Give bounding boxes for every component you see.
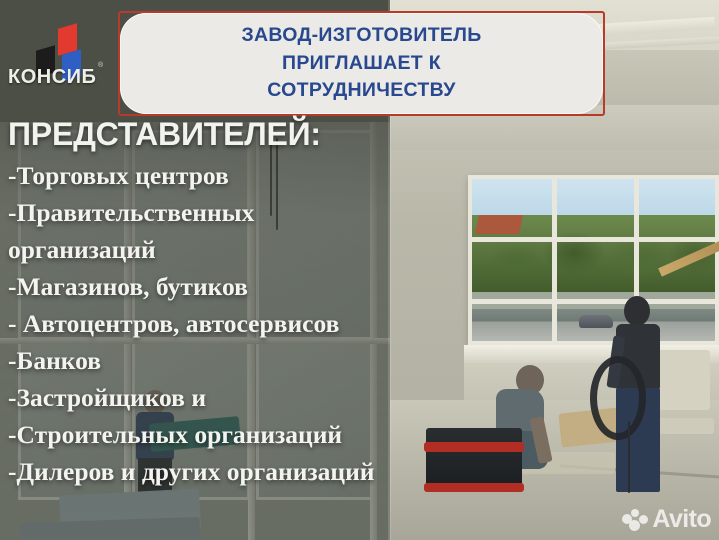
headline-banner-inner: ЗАВОД-ИЗГОТОВИТЕЛЬ ПРИГЛАШАЕТ К СОТРУДНИ… [120, 13, 603, 114]
representatives-list: -Торговых центров -Правительственных орг… [8, 157, 378, 490]
list-item: -Дилеров и других организаций [8, 453, 378, 490]
list-item: -Строительных организаций [8, 416, 378, 453]
worker-standing [608, 296, 666, 496]
window-mullion [472, 299, 715, 304]
logo-wordmark: КОНСИБ [8, 66, 96, 89]
avito-label: Avito [652, 505, 711, 534]
headline-text: ЗАВОД-ИЗГОТОВИТЕЛЬ ПРИГЛАШАЕТ К СОТРУДНИ… [241, 22, 481, 105]
list-item: -Правительственных организаций [8, 194, 378, 268]
window-mullion [552, 179, 557, 341]
list-item: -Банков [8, 342, 378, 379]
window-red-roof [475, 215, 523, 234]
avito-watermark: Avito [622, 505, 711, 534]
hanging-cable [628, 421, 630, 493]
registered-mark-icon: ® [98, 62, 103, 69]
page-title: ПРЕДСТАВИТЕЛЕЙ: [8, 116, 321, 153]
headline-banner: ЗАВОД-ИЗГОТОВИТЕЛЬ ПРИГЛАШАЕТ К СОТРУДНИ… [118, 11, 605, 116]
konsib-logo: КОНСИБ ® [6, 18, 110, 90]
tool-bag-stripe [424, 483, 524, 492]
worker-head [624, 296, 650, 326]
list-item: - Автоцентров, автосервисов [8, 305, 378, 342]
window-mullion [472, 237, 715, 242]
poster-image: КОНСИБ ® ЗАВОД-ИЗГОТОВИТЕЛЬ ПРИГЛАШАЕТ К… [0, 0, 719, 540]
list-item: -Застройщиков и [8, 379, 378, 416]
tool-bag-stripe [424, 442, 524, 452]
list-item: -Магазинов, бутиков [8, 268, 378, 305]
avito-logo-icon [622, 509, 648, 531]
cable-coil [590, 356, 646, 440]
list-item: -Торговых центров [8, 157, 378, 194]
